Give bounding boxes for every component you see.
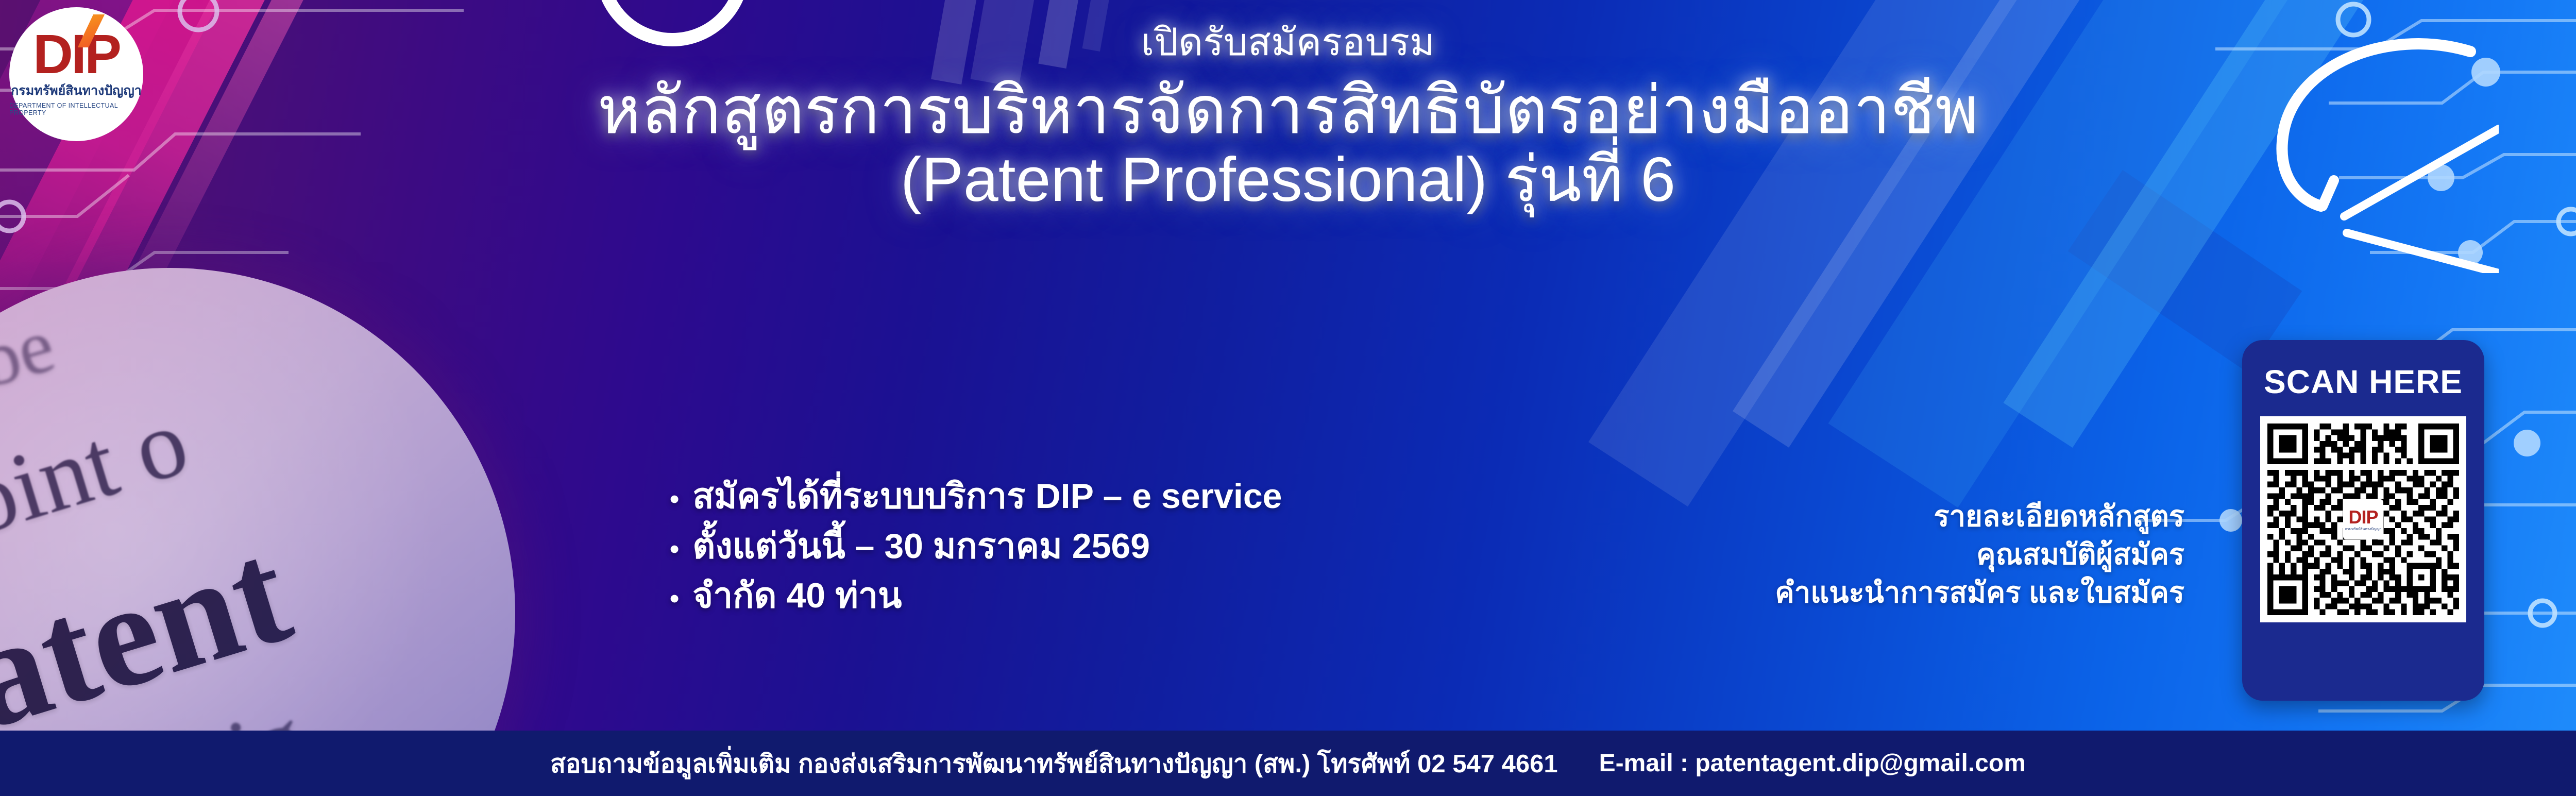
footer-bar: สอบถามข้อมูลเพิ่มเติม กองส่งเสริมการพัฒน… [0,731,2576,796]
footer-email[interactable]: E-mail : patentagent.dip@gmail.com [1599,749,2026,777]
patent-photo-tint [0,268,515,796]
list-item: • สมัครได้ที่ระบบบริการ DIP – e service [670,471,1649,521]
bullet-list: • สมัครได้ที่ระบบบริการ DIP – e service … [670,471,1649,621]
qr-center-logo: DIP กรมทรัพย์สินทางปัญญา [2343,499,2383,539]
patent-photo: to be point o Patent sole rig [0,268,515,796]
qr-code[interactable]: DIP กรมทรัพย์สินทางปัญญา [2260,416,2466,622]
title-line-1: หลักสูตรการบริหารจัดการสิทธิบัตรอย่างมือ… [0,75,2576,146]
bullet-text: สมัครได้ที่ระบบบริการ DIP – e service [692,471,1282,521]
qr-center-logo-letters: DIP [2348,508,2378,527]
list-item: • จำกัด 40 ท่าน [670,571,1649,621]
qr-description-line-3: คำแนะนำการสมัคร และใบสมัคร [1618,573,2184,612]
title-line-2: (Patent Professional) รุ่นที่ 6 [0,144,2576,215]
qr-description-list: รายละเอียดหลักสูตร คุณสมบัติผู้สมัคร คำแ… [1618,497,2184,612]
kicker-text: เปิดรับสมัครอบรม [0,11,2576,72]
bullet-text: ตั้งแต่วันนี้ – 30 มกราคม 2569 [692,521,1150,571]
bullet-text: จำกัด 40 ท่าน [692,571,902,621]
bullet-dot-icon: • [670,486,679,513]
scan-here-label: SCAN HERE [2264,363,2463,401]
footer-contact: สอบถามข้อมูลเพิ่มเติม กองส่งเสริมการพัฒน… [550,743,1558,784]
headline-block: เปิดรับสมัครอบรม หลักสูตรการบริหารจัดการ… [0,0,2576,215]
scan-here-panel[interactable]: SCAN HERE [2242,340,2484,701]
qr-description-line-1: รายละเอียดหลักสูตร [1618,497,2184,535]
bullet-dot-icon: • [670,585,679,612]
qr-description-line-2: คุณสมบัติผู้สมัคร [1618,535,2184,573]
bullet-dot-icon: • [670,536,679,563]
promo-banner: to be point o Patent sole rig DIP กรมทรั… [0,0,2576,796]
qr-center-logo-sub: กรมทรัพย์สินทางปัญญา [2345,528,2381,531]
list-item: • ตั้งแต่วันนี้ – 30 มกราคม 2569 [670,521,1649,571]
